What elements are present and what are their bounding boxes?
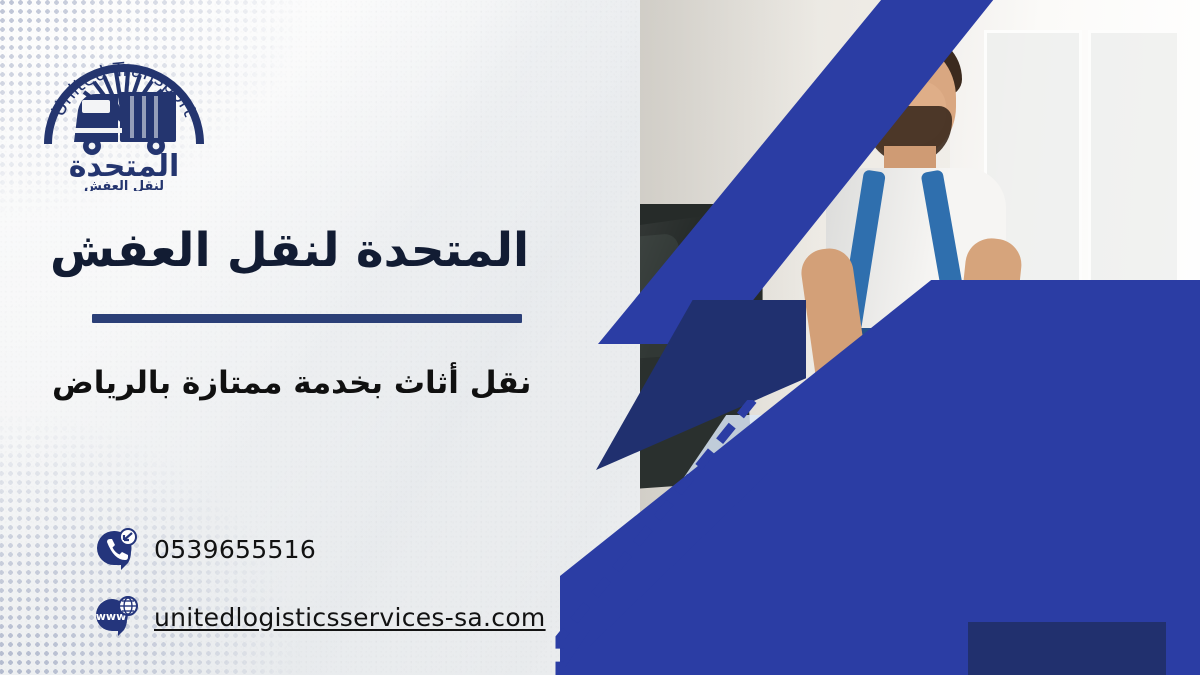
page-subtitle: نقل أثاث بخدمة ممتازة بالرياض [52, 365, 592, 401]
logo-arabic-sub: لنقل العفش [84, 179, 164, 191]
company-logo[interactable]: United Transport [34, 26, 214, 191]
truck-icon [74, 92, 176, 155]
promo-banner: United Transport [0, 0, 1200, 675]
website-url[interactable]: unitedlogisticsservices-sa.com [154, 603, 546, 632]
navy-bar-bottom-right [968, 622, 1166, 675]
www-globe-icon: www [92, 596, 138, 638]
contact-block: 0539655516 www unitedlogisticsservices-s… [92, 528, 546, 664]
title-divider [92, 314, 522, 323]
page-title: المتحدة لنقل العفش [50, 224, 570, 278]
incoming-call-icon [92, 528, 138, 570]
phone-number[interactable]: 0539655516 [154, 535, 316, 564]
contact-row-website[interactable]: www unitedlogisticsservices-sa.com [92, 596, 546, 638]
contact-row-phone[interactable]: 0539655516 [92, 528, 546, 570]
